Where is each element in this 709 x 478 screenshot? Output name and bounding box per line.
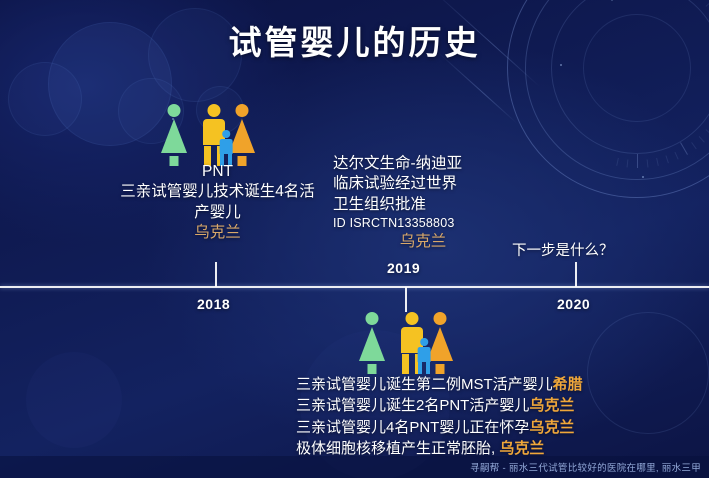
person-leg (418, 362, 422, 374)
person-icon-woman (358, 312, 386, 374)
family-icon-group-bottom (358, 312, 454, 374)
person-head (236, 104, 249, 117)
person-head (168, 104, 181, 117)
watermark-text: 寻嗣帮 - 丽水三代试管比较好的医院在哪里, 丽水三甲 (470, 460, 701, 474)
slide-canvas: 试管婴儿的历史 PNT 三亲试管婴儿技术诞生4名活 产婴儿 乌克兰 达尔文生命-… (0, 0, 709, 478)
timeline-year-2018: 2018 (197, 296, 230, 312)
hud-tick (706, 1, 709, 7)
person-head (208, 104, 221, 117)
person-body (359, 327, 385, 361)
hud-tick (627, 159, 629, 167)
bottom-line-1: 三亲试管婴儿诞生第二例MST活产婴儿希腊 (296, 374, 626, 395)
bottom-line-text: 三亲试管婴儿诞生2名PNT活产婴儿 (296, 397, 529, 414)
person-leg (402, 354, 409, 374)
mid-line-3: 卫生组织批准 (333, 195, 513, 215)
bottom-line-text: 三亲试管婴儿4名PNT婴儿正在怀孕 (296, 419, 529, 436)
mid-country: 乌克兰 (333, 232, 513, 252)
bottom-line-country: 乌克兰 (529, 419, 574, 436)
event-block-bottom: 三亲试管婴儿诞生第二例MST活产婴儿希腊三亲试管婴儿诞生2名PNT活产婴儿乌克兰… (296, 374, 626, 459)
hud-tick (637, 154, 638, 168)
timeline-tick-2018 (215, 262, 217, 287)
person-icon-child (416, 338, 432, 374)
person-body (220, 139, 233, 154)
hud-tick (674, 152, 678, 160)
bottom-line-country: 希腊 (553, 376, 583, 393)
bottom-line-text: 三亲试管婴儿诞生第二例MST活产婴儿 (296, 376, 553, 393)
person-icon-woman (160, 104, 188, 166)
bottom-line-country: 乌克兰 (499, 440, 544, 457)
bottom-line-3: 三亲试管婴儿4名PNT婴儿正在怀孕乌克兰 (296, 417, 626, 438)
speck (560, 64, 562, 66)
timeline-tick-2019 (405, 287, 407, 312)
hud-tick (699, 136, 705, 143)
event-block-middle: 达尔文生命-纳迪亚 临床试验经过世界 卫生组织批准 ID ISRCTN13358… (333, 154, 513, 252)
person-head (366, 312, 379, 325)
timeline-axis (0, 286, 709, 288)
person-head (420, 338, 428, 346)
hud-tick (656, 158, 659, 166)
bottom-line-text: 极体细胞核移植产生正常胚胎, (296, 440, 499, 457)
hud-tick (691, 142, 697, 149)
next-step-label: 下一步是什么？ (512, 242, 614, 261)
speck (642, 176, 644, 178)
timeline-year-2019: 2019 (387, 260, 420, 276)
bottom-line-2: 三亲试管婴儿诞生2名PNT活产婴儿乌克兰 (296, 395, 626, 416)
left-line-3: 产婴儿 (110, 203, 325, 223)
left-line-1: PNT (110, 162, 325, 182)
bottom-line-country: 乌克兰 (529, 397, 574, 414)
mid-line-1: 达尔文生命-纳迪亚 (333, 154, 513, 174)
person-leg (436, 364, 445, 374)
mid-trial-id: ID ISRCTN13358803 (333, 215, 513, 232)
hud-tick (616, 158, 619, 166)
person-head (222, 130, 230, 138)
person-head (434, 312, 447, 325)
left-country: 乌克兰 (110, 223, 325, 243)
hud-triangle-icon (603, 0, 621, 1)
bokeh-circle (8, 62, 82, 136)
timeline-year-2020: 2020 (557, 296, 590, 312)
hud-tick (680, 142, 688, 155)
mid-line-2: 临床试验经过世界 (333, 174, 513, 194)
person-leg (368, 364, 377, 374)
person-icon-child (218, 130, 234, 166)
left-line-2: 三亲试管婴儿技术诞生4名活 (110, 182, 325, 202)
person-body (161, 119, 187, 153)
hud-tick (665, 155, 668, 163)
bokeh-circle (26, 352, 122, 448)
timeline-tick-2020 (575, 262, 577, 287)
hud-tick (706, 129, 709, 135)
person-leg (426, 362, 430, 374)
person-head (406, 312, 419, 325)
page-title: 试管婴儿的历史 (0, 16, 709, 64)
person-body (418, 347, 431, 362)
hud-tick (647, 159, 649, 167)
event-block-left: PNT 三亲试管婴儿技术诞生4名活 产婴儿 乌克兰 (110, 162, 325, 244)
family-icon-group-top (160, 104, 256, 166)
